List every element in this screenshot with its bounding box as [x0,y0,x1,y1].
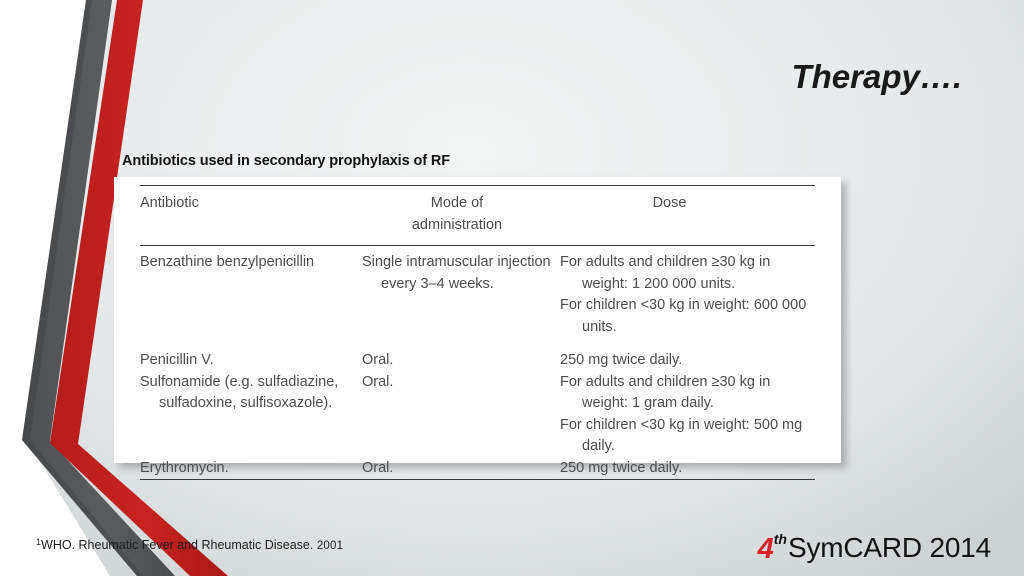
antibiotics-table: Antibiotic Mode of administration Dose B… [140,185,815,482]
column-header-dose: Dose [560,186,815,246]
cell-antibiotic: Penicillin V. [140,350,362,372]
cell-mode: Oral. [362,350,560,372]
cell-antibiotic-text: Penicillin V. [140,350,362,372]
column-header-mode-line2: administration [412,217,502,233]
rule-cell [140,480,362,483]
rule-cell [560,480,815,483]
cell-dose: For adults and children ≥30 kg in weight… [560,372,815,458]
footnote-citation: 1WHO. Rheumatic Fever and Rheumatic Dise… [36,537,343,552]
cell-mode-text: Oral. [362,458,560,480]
cell-dose: For adults and children ≥30 kg in weight… [560,246,815,339]
footnote-year: 2001 [317,540,343,552]
cell-mode-text: Single intramuscular injection every 3–4… [362,252,560,295]
cell-mode-text: Oral. [362,372,560,394]
cell-antibiotic: Sulfonamide (e.g. sulfadiazine, sulfadox… [140,372,362,458]
table-caption: Antibiotics used in secondary prophylaxi… [122,153,450,169]
cell-antibiotic: Benzathine benzylpenicillin [140,246,362,339]
cell-dose-text: For adults and children ≥30 kg in weight… [560,372,815,415]
table-header-row: Antibiotic Mode of administration Dose [140,186,815,246]
spacer-cell [140,338,362,350]
symcard-logo: 4thSymCARD 2014 [758,533,991,562]
table-row-spacer [140,338,815,350]
logo-ordinal-suffix: th [774,532,787,546]
cell-mode: Oral. [362,458,560,480]
table-bottom-rule [140,480,815,483]
table-row: Erythromycin. Oral. 250 mg twice daily. [140,458,815,480]
footnote-text: WHO. Rheumatic Fever and Rheumatic Disea… [41,538,317,552]
cell-antibiotic-text: Sulfonamide (e.g. sulfadiazine, sulfadox… [140,372,362,415]
cell-antibiotic-text: Benzathine benzylpenicillin [140,252,362,274]
page-title: Therapy…. [791,58,962,96]
cell-dose-text: For children <30 kg in weight: 600 000 u… [560,295,815,338]
cell-mode: Oral. [362,372,560,458]
table-row: Penicillin V. Oral. 250 mg twice daily. [140,350,815,372]
table-panel: Antibiotic Mode of administration Dose B… [114,177,841,463]
cell-dose-text: 250 mg twice daily. [560,458,815,480]
logo-ordinal-number: 4 [758,535,774,564]
cell-dose-text: 250 mg twice daily. [560,350,815,372]
cell-dose-text: For adults and children ≥30 kg in weight… [560,252,815,295]
rule-cell [362,480,560,483]
logo-name: SymCARD 2014 [788,534,991,562]
cell-dose-text: For children <30 kg in weight: 500 mg da… [560,415,815,458]
column-header-antibiotic: Antibiotic [140,186,362,246]
column-header-mode: Mode of administration [362,186,560,246]
cell-antibiotic: Erythromycin. [140,458,362,480]
cell-mode: Single intramuscular injection every 3–4… [362,246,560,339]
table-row: Benzathine benzylpenicillin Single intra… [140,246,815,339]
white-wedge-shape [0,0,110,576]
cell-dose: 250 mg twice daily. [560,458,815,480]
cell-dose: 250 mg twice daily. [560,350,815,372]
spacer-cell [560,338,815,350]
spacer-cell [362,338,560,350]
table-row: Sulfonamide (e.g. sulfadiazine, sulfadox… [140,372,815,458]
column-header-mode-line1: Mode of [431,195,483,211]
cell-antibiotic-text: Erythromycin. [140,458,362,480]
slide-canvas: Therapy…. Antibiotics used in secondary … [0,0,1024,576]
cell-mode-text: Oral. [362,350,560,372]
